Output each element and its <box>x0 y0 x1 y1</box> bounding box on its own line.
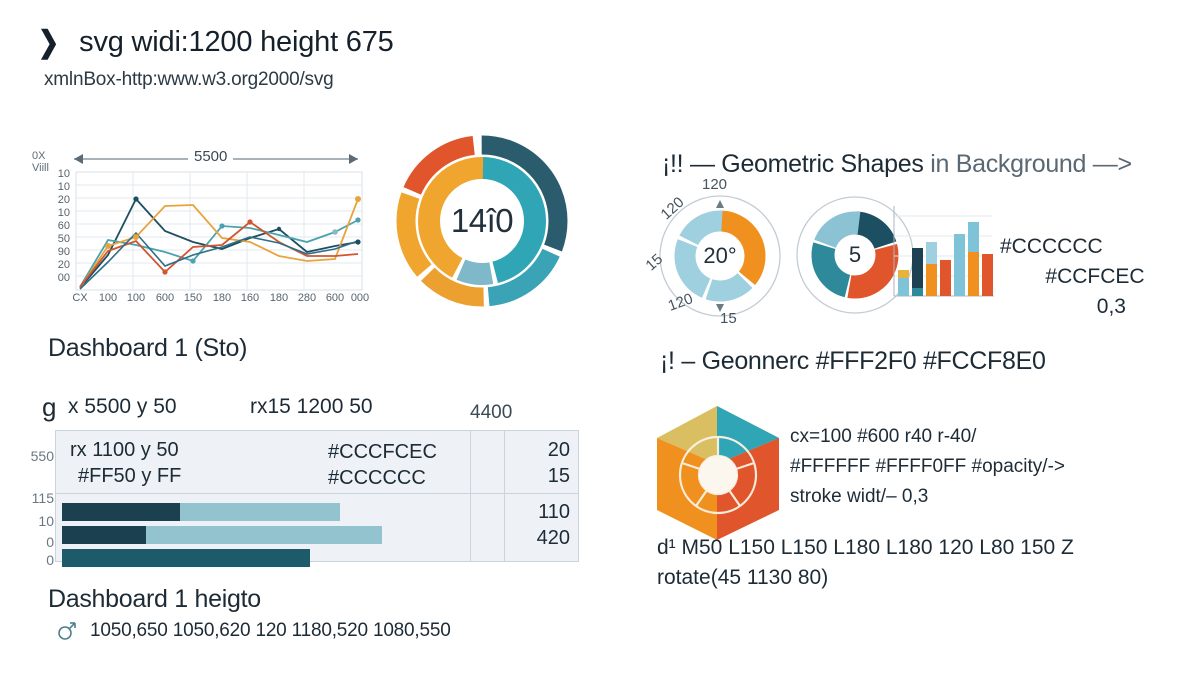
table-ytick: 115 <box>18 490 54 506</box>
line-chart-ytick: 00 <box>36 272 70 284</box>
line-chart-xtick: 100 <box>121 292 151 304</box>
page-header: ❯ svg widi:1200 height 675 xmlnBox-http:… <box>36 26 394 91</box>
line-chart-ytick: 10 <box>36 181 70 193</box>
table-ytick: 0 <box>18 534 54 550</box>
table-row: #CCCFCEC <box>328 441 437 464</box>
screenshot-root: ❯ svg widi:1200 height 675 xmlnBox-http:… <box>0 0 1200 675</box>
line-chart-annotation: 5500 <box>188 148 233 165</box>
line-chart-svg <box>28 142 374 310</box>
line-chart-xtick: CX <box>65 292 95 304</box>
line-chart-ytick: 10 <box>36 168 70 180</box>
donut-center-label: 14î0 <box>382 126 582 316</box>
table-bar-segment <box>62 549 310 567</box>
line-chart-ytick: 10 <box>36 207 70 219</box>
line-chart-xtick: 280 <box>292 292 322 304</box>
caption-g: g <box>42 392 56 423</box>
coords-line: 1050,650 1050,620 120 1180,520 1080,550 <box>56 620 451 642</box>
path-line: rotate(45 1130 80) <box>657 563 1177 593</box>
hex-value: #CCCCCC <box>1000 232 1190 262</box>
cube-attr-line: #FFFFFF #FFFF0FF #opacity/-> <box>790 452 1190 482</box>
cube-attr-line: cx=100 #600 r40 r-40/ <box>790 422 1190 452</box>
table-ytick: 550 <box>18 448 54 464</box>
isometric-cube-svg <box>645 398 790 548</box>
line-chart-ytick: 90 <box>36 246 70 258</box>
isometric-cube-illustration <box>645 398 790 548</box>
table-bar-segment <box>146 526 382 544</box>
table-row: #FF50 y FF <box>78 465 181 488</box>
table-ytick: 10 <box>18 513 54 529</box>
dashboard-2-title: Dashboard 1 heigto <box>48 585 261 614</box>
dashboard-1-title: Dashboard 1 (Sto) <box>48 334 247 363</box>
path-line: d¹ M50 L150 L150 L180 L180 120 L80 150 Z <box>657 533 1177 563</box>
hex-value: #CCFCEC <box>1000 262 1190 292</box>
mini-donut-gauge: 20° 120 120 15 120 15 <box>650 186 790 326</box>
line-chart-xtick: 000 <box>345 292 375 304</box>
page-title: svg widi:1200 height 675 <box>79 26 393 59</box>
path-definition-text: d¹ M50 L150 L150 L180 L180 120 L80 150 Z… <box>657 533 1177 593</box>
donut-chart-main: 14î0 <box>382 126 582 316</box>
geometric-heading-dim: in Background —> <box>924 150 1132 178</box>
line-chart-ytick: 60 <box>36 220 70 232</box>
hex-values-list: #CCCCCC #CCFCEC 0,3 <box>1000 232 1190 322</box>
line-chart: 0XViill 5500 <box>28 142 374 310</box>
page-subtitle: xmlnBox-http:www.w3.org2000/svg <box>44 69 394 91</box>
table-bar-segment <box>180 503 340 521</box>
line-chart-xtick: 150 <box>178 292 208 304</box>
table-row: rx 1100 y 50 <box>70 439 179 462</box>
generic-heading: ¡! – Geonnerc #FFF2F0 #FCCF8E0 <box>660 347 1046 376</box>
table-row: 420 <box>506 527 570 550</box>
line-chart-ytick: 20 <box>36 259 70 271</box>
mini-donut-tick: 120 <box>702 176 727 193</box>
mini-donut-tick: 15 <box>720 310 737 327</box>
table-row: 20 <box>506 439 570 462</box>
cube-attributes-text: cx=100 #600 r40 r-40/ #FFFFFF #FFFF0FF #… <box>790 422 1190 512</box>
table-row: 110 <box>506 501 570 524</box>
table-ytick: 0 <box>18 552 54 568</box>
line-chart-xtick: 160 <box>235 292 265 304</box>
line-chart-ytick: 20 <box>36 194 70 206</box>
line-chart-xtick: 100 <box>93 292 123 304</box>
data-table[interactable]: rx 1100 y 50 #CCCFCEC 20 #FF50 y FF #CCC… <box>55 430 579 562</box>
line-chart-xtick: 180 <box>264 292 294 304</box>
table-row: #CCCCCC <box>328 467 426 490</box>
mars-symbol-icon <box>56 620 78 642</box>
caption-coords-a: x 5500 y 50 <box>68 395 177 419</box>
cube-attr-line: stroke widt/– 0,3 <box>790 482 1190 512</box>
caption-coords-b: rx15 1200 50 <box>250 395 373 419</box>
line-chart-xtick: 600 <box>150 292 180 304</box>
geometric-heading-main: ¡!! — Geometric Shapes <box>662 150 924 178</box>
hex-value: 0,3 <box>1000 292 1190 322</box>
geometric-shapes-heading: ¡!! — Geometric Shapes in Background —> <box>662 150 1132 179</box>
table-bar-segment <box>62 503 180 521</box>
coords-text: 1050,650 1050,620 120 1180,520 1080,550 <box>90 620 451 642</box>
mini-bar-chart <box>880 196 1000 312</box>
table-captions: g x 5500 y 50 rx15 1200 50 4400 <box>42 392 562 426</box>
chevron-right-icon: ❯ <box>38 28 59 58</box>
line-chart-xtick: 180 <box>207 292 237 304</box>
table-bar-segment <box>62 526 146 544</box>
caption-value-c: 4400 <box>470 402 512 424</box>
mini-bar-chart-svg <box>880 196 1000 312</box>
table-row: 15 <box>506 465 570 488</box>
line-chart-ytick: 50 <box>36 233 70 245</box>
